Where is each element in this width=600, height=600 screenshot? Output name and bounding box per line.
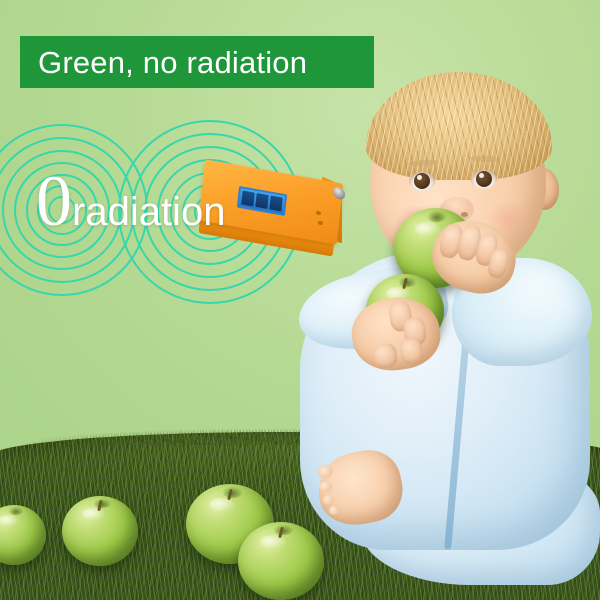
apple-highlight bbox=[209, 498, 235, 512]
apple-center-front bbox=[238, 522, 324, 600]
apple-highlight bbox=[82, 508, 105, 521]
eye-glint bbox=[417, 175, 422, 180]
baby-eye-left bbox=[409, 172, 435, 191]
baby-hair bbox=[366, 72, 552, 180]
headline-banner: Green, no radiation bbox=[20, 36, 374, 88]
lcd-segment bbox=[255, 193, 268, 209]
headline-text: Green, no radiation bbox=[38, 47, 307, 78]
apple-left bbox=[62, 496, 138, 566]
nostril bbox=[461, 212, 468, 217]
apple-highlight bbox=[415, 222, 440, 236]
apple-dimple bbox=[274, 525, 293, 535]
banner-canvas: 0 radiation Green, no radiation bbox=[0, 0, 600, 600]
lcd-segment bbox=[269, 196, 282, 212]
baby-eye-right bbox=[471, 170, 497, 189]
zero-radiation-caption: 0 radiation bbox=[36, 168, 225, 234]
zero-radiation-word: radiation bbox=[72, 192, 225, 232]
lcd-segment bbox=[241, 191, 254, 207]
apple-highlight bbox=[0, 515, 18, 526]
finger bbox=[371, 342, 398, 369]
zero-radiation-number: 0 bbox=[36, 168, 70, 234]
apple-dimple bbox=[9, 507, 23, 515]
eye-glint bbox=[479, 173, 484, 178]
baby-toe bbox=[328, 505, 340, 516]
apple-dimple bbox=[428, 211, 446, 221]
apple-dimple bbox=[223, 487, 242, 497]
apple-highlight bbox=[260, 535, 286, 549]
baby-toe bbox=[318, 480, 333, 493]
baby-toe bbox=[322, 494, 335, 506]
